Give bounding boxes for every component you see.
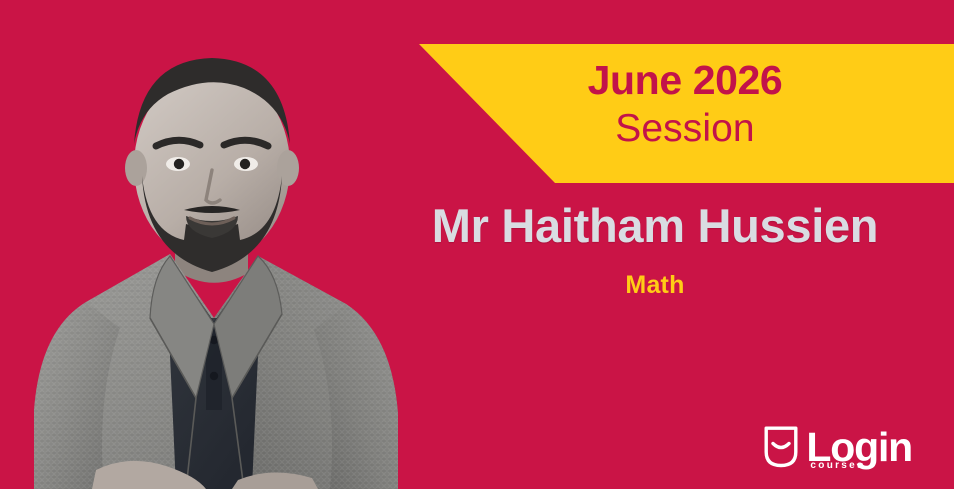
login-courses-logo[interactable]: Login courses — [762, 425, 912, 469]
logo-tagline: courses — [810, 461, 864, 471]
instructor-subject: Math — [375, 271, 935, 299]
session-label: June 2026 Session — [430, 56, 940, 152]
instructor-block: Mr Haitham Hussien Math — [375, 198, 935, 299]
course-session-banner: June 2026 Session — [0, 0, 954, 489]
logo-wordmark-group: Login courses — [806, 426, 912, 468]
session-date: June 2026 — [430, 56, 940, 104]
session-word: Session — [430, 106, 940, 152]
instructor-name: Mr Haitham Hussien — [375, 198, 935, 254]
shield-chevron-icon — [762, 425, 800, 469]
